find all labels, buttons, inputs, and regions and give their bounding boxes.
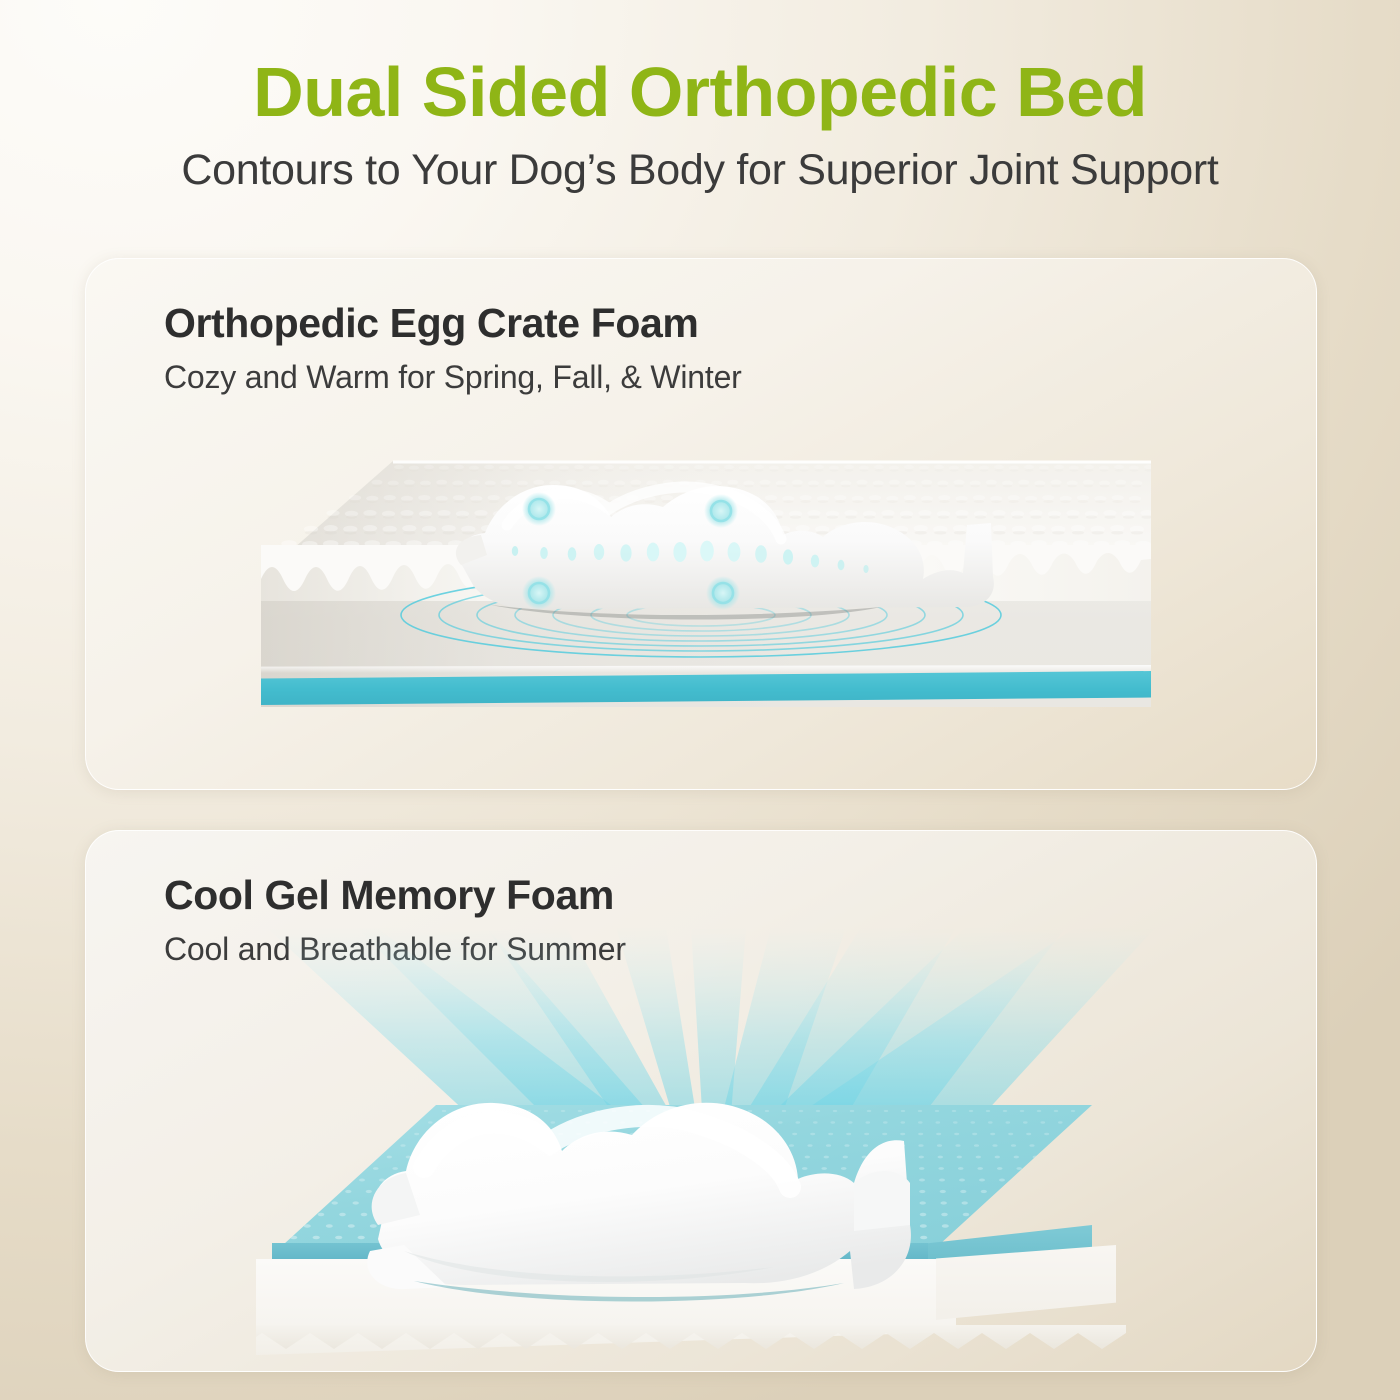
dog-figure-gel-foam — [344, 1075, 944, 1337]
egg-crate-illustration — [86, 259, 1316, 789]
infographic-page: Dual Sided Orthopedic Bed Contours to Yo… — [0, 0, 1400, 1400]
feature-card-egg-crate-foam: Orthopedic Egg Crate Foam Cozy and Warm … — [85, 258, 1317, 790]
page-title: Dual Sided Orthopedic Bed — [0, 56, 1400, 129]
header: Dual Sided Orthopedic Bed Contours to Yo… — [0, 56, 1400, 194]
page-subtitle: Contours to Your Dog’s Body for Superior… — [0, 147, 1400, 194]
gel-foam-illustration — [86, 831, 1316, 1371]
dog-figure-egg-crate — [411, 447, 1021, 637]
feature-card-cool-gel-memory-foam: Cool Gel Memory Foam Cool and Breathable… — [85, 830, 1317, 1372]
